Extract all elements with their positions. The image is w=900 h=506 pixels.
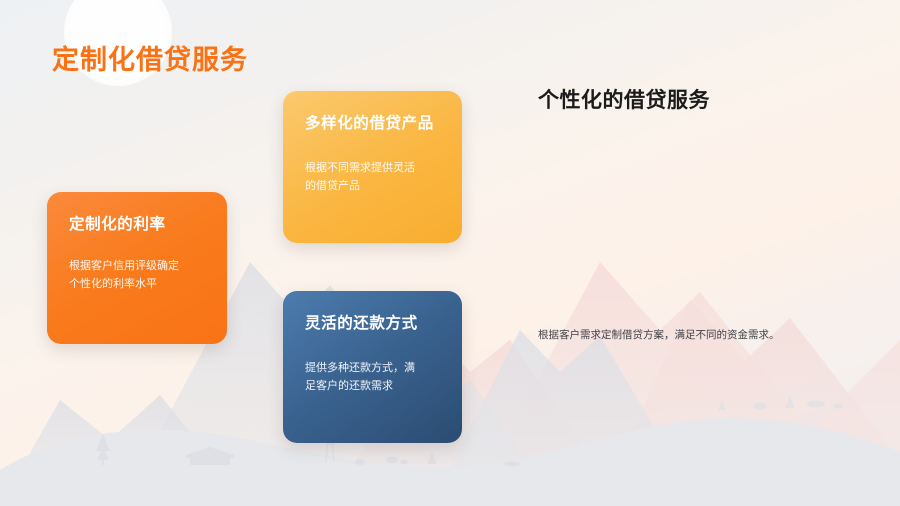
page-title: 定制化借贷服务 — [52, 38, 248, 77]
right-panel-body: 根据客户需求定制借贷方案，满足不同的资金需求。 — [538, 327, 868, 345]
slide-canvas: 定制化借贷服务 定制化的利率 根据客户信用评级确定个性化的利率水平 多样化的借贷… — [0, 0, 900, 506]
feature-card-rate-body: 根据客户信用评级确定个性化的利率水平 — [69, 257, 189, 293]
feature-card-repayment-body: 提供多种还款方式，满足客户的还款需求 — [305, 359, 425, 395]
feature-card-products[interactable]: 多样化的借贷产品 根据不同需求提供灵活的借贷产品 — [283, 91, 462, 243]
feature-card-products-title: 多样化的借贷产品 — [305, 115, 440, 134]
feature-card-products-body: 根据不同需求提供灵活的借贷产品 — [305, 159, 425, 195]
feature-card-repayment-title: 灵活的还款方式 — [305, 315, 440, 334]
feature-card-rate[interactable]: 定制化的利率 根据客户信用评级确定个性化的利率水平 — [47, 192, 227, 344]
feature-card-rate-title: 定制化的利率 — [69, 216, 205, 235]
feature-card-repayment[interactable]: 灵活的还款方式 提供多种还款方式，满足客户的还款需求 — [283, 291, 462, 443]
right-panel-heading: 个性化的借贷服务 — [538, 84, 710, 114]
